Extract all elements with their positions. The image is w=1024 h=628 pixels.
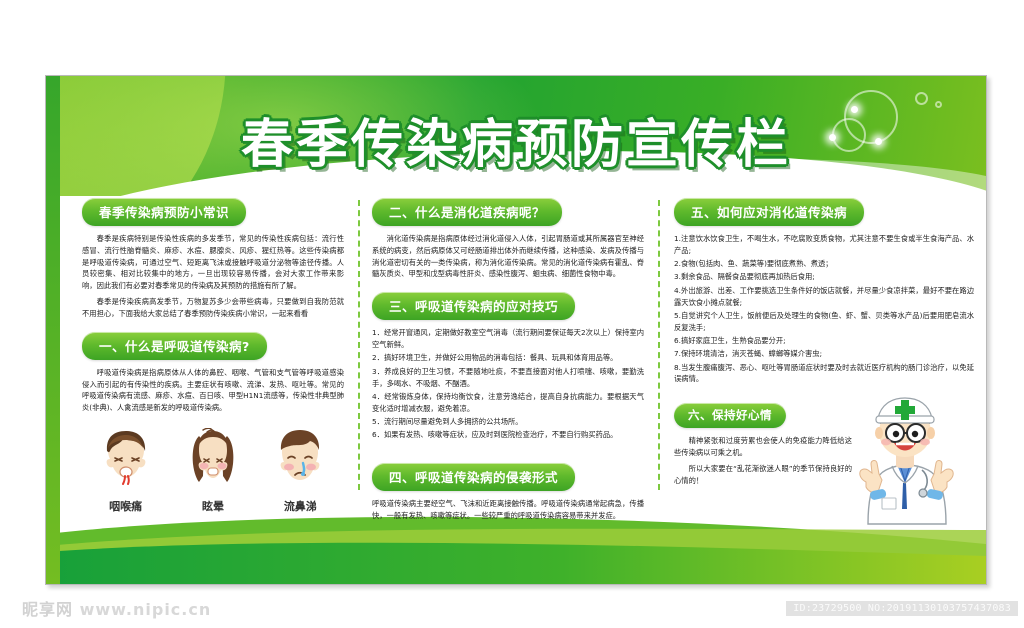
section-two-heading: 二、什么是消化道疾病呢？ <box>372 198 562 226</box>
intro-paragraph: 春季是疾病特别是传染性疾病的多发季节，常见的传染性疾病包括：流行性感冒、流行性脑… <box>82 233 344 292</box>
list-item: 1.注意饮水饮食卫生，不喝生水，不吃腐败变质食物，尤其注意不要生食或半生食海产品… <box>674 233 974 257</box>
list-item: 2.食物(包括肉、鱼、蔬菜等)要彻底煮熟、煮透； <box>674 258 974 270</box>
screenshot-root: 春季传染病预防宣传栏 春季传染病预防小常识 春季是疾病特别是传染性疾病的多发季节… <box>0 0 1024 628</box>
section-four-paragraph: 呼吸道传染病主要经空气、飞沫和近距离接触传播。呼吸道传染病通常起病急，传播快，一… <box>372 498 644 522</box>
runny-nose-face-icon <box>268 428 332 490</box>
doctor-thumbs-up-icon <box>830 386 980 526</box>
list-item: 2．搞好环境卫生，并做好公用物品的消毒包括：餐具、玩具和体育用品等。 <box>372 352 644 364</box>
column-divider <box>358 200 360 490</box>
list-item: 5.自觉讲究个人卫生，饭前便后及处理生的食物(鱼、虾、蟹、贝类等水产品)后要用肥… <box>674 310 974 334</box>
section-three-heading: 三、呼吸道传染病的应对技巧 <box>372 292 575 320</box>
section-six-paragraph: 精神紧张和过度劳累也会使人的免疫能力降低给这些传染病以可乘之机。 <box>674 435 852 459</box>
symptom-item: 咽喉痛 <box>86 428 166 514</box>
list-item: 6.搞好家庭卫生，生熟食品要分开; <box>674 335 974 347</box>
symptom-item: 流鼻涕 <box>260 428 340 514</box>
column-three: 五、如何应对消化道传染病 1.注意饮水饮食卫生，不喝生水，不吃腐败变质食物，尤其… <box>658 198 974 500</box>
list-item: 3.剩余食品、隔餐食品要彻底再加热后食用; <box>674 271 974 283</box>
symptom-label: 咽喉痛 <box>86 498 166 514</box>
watermark-url: www.nipic.cn <box>80 600 212 619</box>
section-five-heading: 五、如何应对消化道传染病 <box>674 198 864 226</box>
section-three-block: 三、呼吸道传染病的应对技巧 1．经常开窗通风，定期做好教室空气消毒（流行期间要保… <box>372 292 644 441</box>
symptom-item: 眩晕 <box>173 428 253 514</box>
section-five-block: 五、如何应对消化道传染病 1.注意饮水饮食卫生，不喝生水，不吃腐败变质食物，尤其… <box>674 198 974 385</box>
image-id-tag: ID:23729500 NO:20191130103757437083 <box>786 601 1018 616</box>
symptom-label: 眩晕 <box>173 498 253 514</box>
list-item: 4．经常锻炼身体，保持均衡饮食，注意劳逸结合，提高自身抗病能力。要根据天气变化适… <box>372 391 644 415</box>
site-watermark: 昵享网 www.nipic.cn <box>22 596 211 620</box>
page-title: 春季传染病预防宣传栏 <box>46 102 986 177</box>
section-four-block: 四、呼吸道传染病的侵袭形式 呼吸道传染病主要经空气、飞沫和近距离接触传播。呼吸道… <box>372 463 644 522</box>
list-item: 7.保持环境清洁，消灭苍蝇、蟑螂等媒介害虫; <box>674 348 974 360</box>
symptom-label: 流鼻涕 <box>260 498 340 514</box>
intro-paragraph: 春季是传染疾病高发季节，万物复苏多少会带些病毒，只要做到自我防范就不用担心，下面… <box>82 296 344 320</box>
list-item: 3．养成良好的卫生习惯，不要随地吐痰，不要直接面对他人打喷嚏、咳嗽，要勤洗手，多… <box>372 366 644 390</box>
list-item: 4.外出旅游、出差、工作要挑选卫生条件好的饭店就餐，并尽量少食凉拌菜，最好不要在… <box>674 285 974 309</box>
intro-heading: 春季传染病预防小常识 <box>82 198 246 226</box>
symptom-illustrations: 咽喉痛 <box>82 428 344 514</box>
poster-board: 春季传染病预防宣传栏 春季传染病预防小常识 春季是疾病特别是传染性疾病的多发季节… <box>45 75 987 585</box>
column-divider <box>658 200 660 490</box>
list-item: 1．经常开窗通风，定期做好教室空气消毒（流行期间要保证每天2次以上）保持室内空气… <box>372 327 644 351</box>
column-two: 二、什么是消化道疾病呢？ 消化道传染病是指病原体经过消化道侵入人体，引起胃肠道或… <box>358 198 658 500</box>
list-item: 8.当发生腹痛腹泻、恶心、呕吐等胃肠道症状时要及时去就近医疗机构的肠门诊治疗，以… <box>674 362 974 386</box>
list-item: 6．如果有发热、咳嗽等症状，应及时到医院检查治疗，不要自行购买药品。 <box>372 429 644 441</box>
intro-block: 春季传染病预防小常识 春季是疾病特别是传染性疾病的多发季节，常见的传染性疾病包括… <box>82 198 344 320</box>
poster-content: 春季传染病预防小常识 春季是疾病特别是传染性疾病的多发季节，常见的传染性疾病包括… <box>60 194 986 500</box>
section-two-block: 二、什么是消化道疾病呢？ 消化道传染病是指病原体经过消化道侵入人体，引起胃肠道或… <box>372 198 644 280</box>
section-four-heading: 四、呼吸道传染病的侵袭形式 <box>372 463 575 491</box>
section-two-paragraph: 消化道传染病是指病原体经过消化道侵入人体，引起胃肠道或其所属器官至神经系统的病变… <box>372 233 644 280</box>
section-six-paragraph: 所以大家要在“乱花渐欲迷人眼”的季节保持良好的心情的！ <box>674 463 852 487</box>
watermark-site-name: 昵享网 <box>22 600 73 619</box>
section-six-block: 六、保持好心情 精神紧张和过度劳累也会使人的免疫能力降低给这些传染病以可乘之机。… <box>674 403 852 486</box>
section-one-block: 一、什么是呼吸道传染病? 呼吸道传染病是指病原体从人体的鼻腔、咽喉、气管和支气管… <box>82 332 344 414</box>
sore-throat-face-icon <box>94 428 158 490</box>
section-one-paragraph: 呼吸道传染病是指病原体从人体的鼻腔、咽喉、气管和支气管等呼吸道感染侵入而引起的有… <box>82 367 344 414</box>
column-one: 春季传染病预防小常识 春季是疾病特别是传染性疾病的多发季节，常见的传染性疾病包括… <box>82 198 358 500</box>
list-item: 5．流行期间尽量避免到人多拥挤的公共场所。 <box>372 416 644 428</box>
section-six-heading: 六、保持好心情 <box>674 403 786 428</box>
section-one-heading: 一、什么是呼吸道传染病? <box>82 332 267 360</box>
dizzy-face-icon <box>181 428 245 490</box>
